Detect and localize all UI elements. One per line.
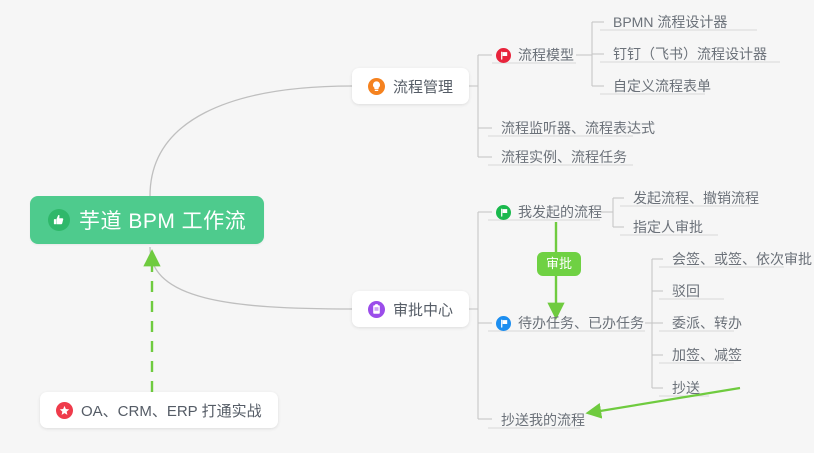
node-countersign[interactable]: 会签、或签、依次审批	[659, 245, 814, 273]
branch-process-management[interactable]: 流程管理	[352, 68, 469, 104]
node-label: 钉钉（飞书）流程设计器	[613, 44, 767, 64]
node-cc[interactable]: 抄送	[659, 374, 708, 402]
node-label: 流程监听器、流程表达式	[501, 118, 655, 138]
node-label: 流程实例、流程任务	[501, 147, 627, 167]
node-label: 我发起的流程	[518, 202, 602, 222]
node-label: 抄送我的流程	[501, 410, 585, 430]
node-label: 自定义流程表单	[613, 76, 711, 96]
root-node-label: 芋道 BPM 工作流	[79, 205, 246, 235]
approval-annotation-badge: 审批	[537, 252, 581, 276]
lightbulb-icon	[368, 78, 385, 95]
star-icon	[56, 402, 73, 419]
node-label: 委派、转办	[672, 313, 742, 333]
node-process-listener[interactable]: 流程监听器、流程表达式	[488, 114, 663, 142]
node-label: 发起流程、撤销流程	[633, 188, 759, 208]
node-label: 指定人审批	[633, 217, 703, 237]
node-label: 流程模型	[518, 45, 574, 65]
node-cc-my-process[interactable]: 抄送我的流程	[488, 406, 593, 434]
thumbs-up-icon	[48, 209, 70, 231]
branch-approval-center[interactable]: 审批中心	[352, 291, 469, 327]
mindmap-canvas: 芋道 BPM 工作流 流程管理 流程模型 BPMN 流程设计器 钉钉（飞书）流程…	[0, 0, 814, 453]
node-process-instance[interactable]: 流程实例、流程任务	[488, 143, 635, 171]
badge-label: 审批	[546, 256, 572, 271]
flag-icon	[496, 48, 511, 63]
node-start-cancel-process[interactable]: 发起流程、撤销流程	[620, 184, 767, 212]
node-custom-form[interactable]: 自定义流程表单	[600, 72, 719, 100]
node-reject[interactable]: 驳回	[659, 277, 708, 305]
branch-label: 审批中心	[393, 299, 453, 320]
node-label: 会签、或签、依次审批	[672, 249, 812, 269]
node-add-remove-sign[interactable]: 加签、减签	[659, 341, 750, 369]
node-bpmn-designer[interactable]: BPMN 流程设计器	[600, 8, 735, 36]
node-todo-done-tasks[interactable]: 待办任务、已办任务	[492, 309, 652, 337]
clipboard-icon	[368, 301, 385, 318]
node-delegate-transfer[interactable]: 委派、转办	[659, 309, 750, 337]
branch-label: 流程管理	[393, 76, 453, 97]
node-label: 待办任务、已办任务	[518, 313, 644, 333]
floating-node-label: OA、CRM、ERP 打通实战	[81, 400, 262, 421]
flag-icon	[496, 316, 511, 331]
node-dingtalk-designer[interactable]: 钉钉（飞书）流程设计器	[600, 40, 775, 68]
node-label: BPMN 流程设计器	[613, 12, 727, 32]
node-process-model[interactable]: 流程模型	[492, 41, 582, 69]
flag-icon	[496, 205, 511, 220]
root-node[interactable]: 芋道 BPM 工作流	[30, 196, 264, 244]
floating-node-integration[interactable]: OA、CRM、ERP 打通实战	[40, 392, 278, 428]
node-label: 驳回	[672, 281, 700, 301]
node-my-initiated-process[interactable]: 我发起的流程	[492, 198, 610, 226]
node-label: 加签、减签	[672, 345, 742, 365]
node-assignee-approval[interactable]: 指定人审批	[620, 213, 711, 241]
node-label: 抄送	[672, 378, 700, 398]
